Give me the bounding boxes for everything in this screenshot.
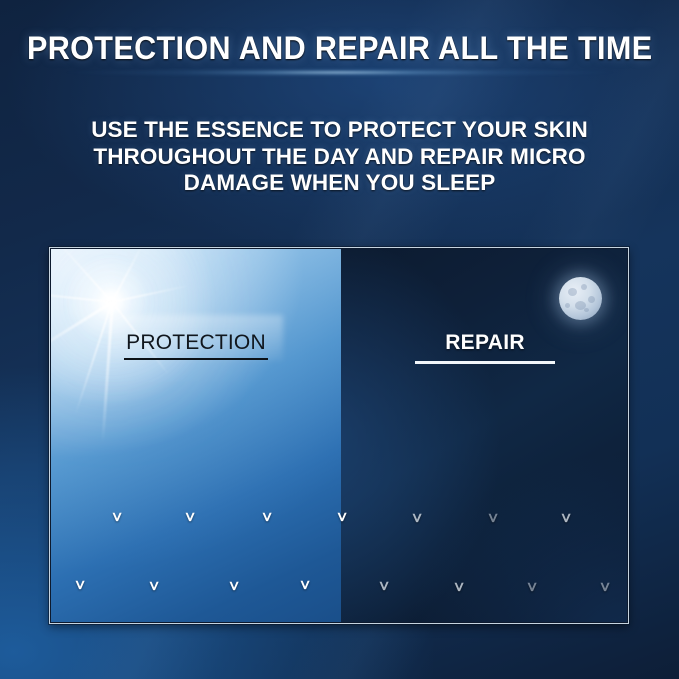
tuft-mark: ⱽ <box>601 582 609 601</box>
headline-text: PROTECTION AND REPAIR ALL THE TIME <box>27 30 652 67</box>
illustration-frame: PROTECTION REPAIR <box>49 247 629 624</box>
tuft-mark: ⱽ <box>338 512 346 531</box>
panel-pair: PROTECTION REPAIR <box>51 249 627 622</box>
tuft-mark: ⱽ <box>150 581 158 600</box>
tuft-mark: ⱽ <box>186 512 194 531</box>
repair-label-container: REPAIR <box>341 331 627 358</box>
moon-crater <box>588 296 595 303</box>
tuft-mark: ⱽ <box>263 512 271 531</box>
repair-label: REPAIR <box>443 331 527 358</box>
moon-crater <box>565 303 570 308</box>
promo-banner: PROTECTION AND REPAIR ALL THE TIME USE T… <box>0 0 679 679</box>
sun-ray <box>111 301 169 375</box>
moon-crater <box>568 288 577 296</box>
moon-crater <box>584 308 589 312</box>
subtitle-line-3: DAMAGE WHEN YOU SLEEP <box>0 170 679 197</box>
subtitle-line-1: USE THE ESSENCE TO PROTECT YOUR SKIN <box>0 117 679 144</box>
headline-glow-streak <box>60 68 620 77</box>
tuft-mark: ⱽ <box>76 580 84 599</box>
tuft-mark: ⱽ <box>301 580 309 599</box>
tuft-mark: ⱽ <box>562 513 570 532</box>
panel-repair-night: REPAIR <box>341 249 627 622</box>
tuft-mark: ⱽ <box>230 581 238 600</box>
moon-crater <box>581 284 587 290</box>
tuft-mark: ⱽ <box>455 582 463 601</box>
sun-ray <box>54 249 113 303</box>
tuft-mark: ⱽ <box>528 582 536 601</box>
panel-protection-day: PROTECTION <box>51 249 341 622</box>
tuft-mark: ⱽ <box>113 512 121 531</box>
repair-label-underline <box>415 361 555 364</box>
tuft-mark: ⱽ <box>413 513 421 532</box>
protection-label-plate <box>109 315 283 361</box>
subtitle-line-2: THROUGHOUT THE DAY AND REPAIR MICRO <box>0 144 679 171</box>
tuft-mark: ⱽ <box>380 581 388 600</box>
tuft-mark: ⱽ <box>489 513 497 532</box>
subtitle-block: USE THE ESSENCE TO PROTECT YOUR SKIN THR… <box>0 117 679 197</box>
moon-icon <box>559 277 602 320</box>
sun-ray <box>112 285 189 303</box>
headline-container: PROTECTION AND REPAIR ALL THE TIME <box>0 30 679 67</box>
